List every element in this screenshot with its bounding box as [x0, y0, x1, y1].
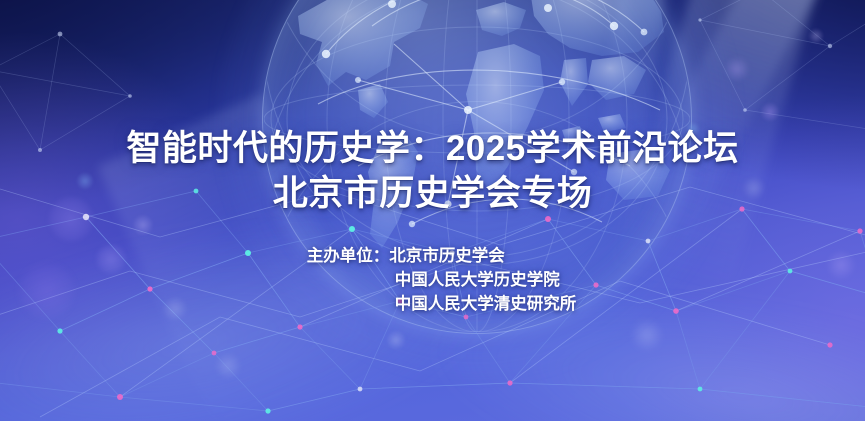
title-line-2: 北京市历史学会专场 — [0, 171, 865, 216]
title-block: 智能时代的历史学：2025学术前沿论坛 北京市历史学会专场 — [0, 126, 865, 216]
organizer-line-2: 中国人民大学历史学院 — [307, 268, 577, 292]
title-slide: 智能时代的历史学：2025学术前沿论坛 北京市历史学会专场 主办单位：北京市历史… — [0, 0, 865, 421]
organizer-line-1: 主办单位：北京市历史学会 — [307, 244, 577, 268]
slide-content: 智能时代的历史学：2025学术前沿论坛 北京市历史学会专场 主办单位：北京市历史… — [0, 0, 865, 421]
organizer-line-3: 中国人民大学清史研究所 — [307, 292, 577, 316]
title-line-1: 智能时代的历史学：2025学术前沿论坛 — [0, 126, 865, 171]
organizers-block: 主办单位：北京市历史学会 中国人民大学历史学院 中国人民大学清史研究所 — [307, 244, 577, 316]
